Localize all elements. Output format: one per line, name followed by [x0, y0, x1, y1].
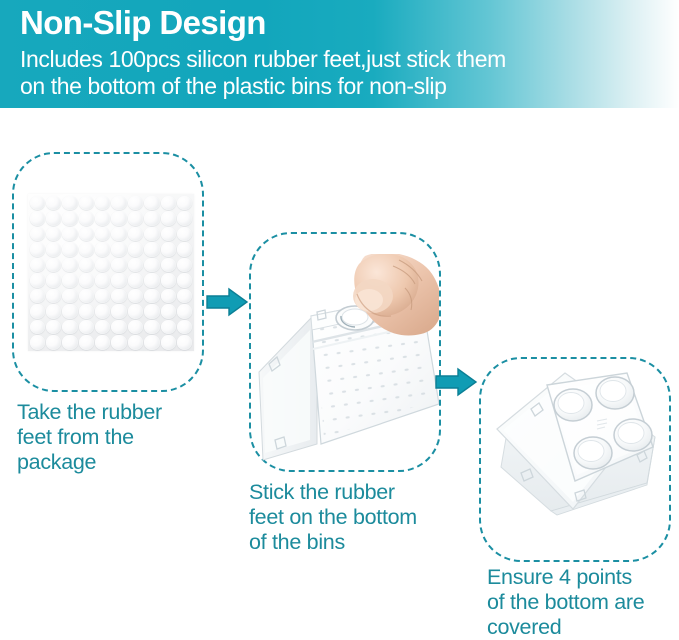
step-2-caption: Stick the rubber feet on the bottom of t…	[249, 480, 459, 555]
rubber-feet-sheet	[28, 194, 194, 351]
step-3-caption: Ensure 4 points of the bottom are covere…	[487, 565, 679, 640]
rubber-foot-dot	[177, 304, 192, 319]
rubber-foot-dot	[95, 273, 110, 288]
header-subtitle-line-1: Includes 100pcs silicon rubber feet,just…	[20, 46, 506, 73]
rubber-foot-dot	[111, 304, 126, 319]
rubber-foot-dot	[95, 227, 110, 242]
bin-left-side	[259, 318, 317, 460]
rubber-foot-dot	[30, 211, 45, 226]
rubber-foot-dot	[79, 242, 94, 257]
rubber-foot-top-left	[554, 389, 592, 421]
header-banner: Non-Slip Design Includes 100pcs silicon …	[0, 0, 679, 108]
rubber-foot-dot	[79, 289, 94, 304]
rubber-foot-dot	[79, 211, 94, 226]
rubber-foot-dot	[144, 227, 159, 242]
step-3-panel	[479, 357, 671, 562]
bin-hand-graphic	[253, 254, 439, 470]
rubber-foot-dot	[95, 304, 110, 319]
rubber-foot-dot	[161, 211, 176, 226]
rubber-foot-dot	[46, 258, 61, 273]
rubber-foot-dot	[161, 289, 176, 304]
rubber-foot-dot	[144, 258, 159, 273]
rubber-foot-dot	[46, 227, 61, 242]
step-1-caption-line-2: feet from the	[17, 425, 217, 450]
step-3-caption-line-2: of the bottom are	[487, 590, 679, 615]
step-2-caption-line-3: of the bins	[249, 530, 459, 555]
rubber-foot-dot	[46, 335, 61, 350]
rubber-foot-dot	[62, 320, 77, 335]
rubber-foot-dot	[79, 335, 94, 350]
rubber-foot-dot	[95, 211, 110, 226]
rubber-foot-dot	[46, 242, 61, 257]
step-1-caption: Take the rubber feet from the package	[17, 400, 217, 475]
rubber-foot-dot	[111, 273, 126, 288]
step-1-caption-line-3: package	[17, 450, 217, 475]
rubber-foot-dot	[144, 196, 159, 211]
rubber-foot-dot	[177, 273, 192, 288]
arrow-right-icon-2	[434, 367, 478, 397]
rubber-foot-dot	[79, 304, 94, 319]
rubber-foot-dot	[95, 320, 110, 335]
arrow-right-glyph-2	[434, 367, 478, 397]
rubber-feet-dot-grid	[28, 194, 194, 351]
step-2-caption-line-2: feet on the bottom	[249, 505, 459, 530]
rubber-foot-dot	[95, 242, 110, 257]
rubber-foot-dot	[177, 258, 192, 273]
header-subtitle-line-2: on the bottom of the plastic bins for no…	[20, 73, 506, 100]
rubber-foot-dot	[128, 227, 143, 242]
rubber-foot-dot	[144, 273, 159, 288]
rubber-foot-dot	[30, 227, 45, 242]
rubber-foot-dot	[144, 320, 159, 335]
step-1-caption-line-1: Take the rubber	[17, 400, 217, 425]
step-3-caption-line-1: Ensure 4 points	[487, 565, 679, 590]
rubber-foot-dot	[161, 242, 176, 257]
arrow-right-glyph-1	[205, 287, 249, 317]
rubber-foot-dot	[161, 258, 176, 273]
step-2-image	[251, 234, 439, 470]
rubber-foot-dot	[79, 273, 94, 288]
rubber-foot-dot	[128, 273, 143, 288]
rubber-foot-dot	[30, 320, 45, 335]
bin-bottom-four-feet-illustration	[487, 363, 669, 559]
rubber-foot-dot	[62, 227, 77, 242]
rubber-foot-dot	[144, 242, 159, 257]
rubber-foot-dot	[177, 289, 192, 304]
rubber-foot-dot	[62, 196, 77, 211]
arrow-right-icon-1	[205, 287, 249, 317]
rubber-foot-dot	[128, 304, 143, 319]
rubber-foot-dot	[111, 258, 126, 273]
rubber-foot-dot	[30, 304, 45, 319]
rubber-foot-dot	[95, 258, 110, 273]
rubber-foot-dot	[46, 320, 61, 335]
rubber-foot-dot	[144, 289, 159, 304]
rubber-foot-dot	[128, 335, 143, 350]
rubber-foot-dot	[161, 273, 176, 288]
rubber-foot-dot	[111, 335, 126, 350]
rubber-foot-dot	[177, 227, 192, 242]
bin-with-hand-illustration	[253, 254, 439, 470]
rubber-foot-dot	[144, 211, 159, 226]
rubber-foot-dot	[177, 320, 192, 335]
rubber-foot-dot	[46, 304, 61, 319]
rubber-foot-dot	[46, 211, 61, 226]
rubber-foot-dot	[161, 335, 176, 350]
rubber-foot-dot	[95, 196, 110, 211]
rubber-foot-dot	[111, 320, 126, 335]
rubber-foot-dot	[30, 289, 45, 304]
rubber-foot-dot	[128, 196, 143, 211]
rubber-foot-dot	[62, 289, 77, 304]
rubber-foot-dot	[128, 242, 143, 257]
step-2-panel	[249, 232, 441, 472]
step-3-image	[481, 359, 669, 560]
rubber-foot-dot	[128, 289, 143, 304]
step-1-panel	[12, 152, 204, 392]
rubber-foot-dot	[111, 289, 126, 304]
rubber-foot-dot	[161, 320, 176, 335]
rubber-foot-dot	[62, 335, 77, 350]
rubber-foot-dot	[62, 242, 77, 257]
rubber-foot-dot	[177, 196, 192, 211]
rubber-foot-bottom-left	[574, 437, 612, 469]
rubber-foot-dot	[30, 273, 45, 288]
rubber-foot-dot	[30, 196, 45, 211]
rubber-foot-dot	[30, 242, 45, 257]
rubber-foot-dot	[46, 289, 61, 304]
rubber-foot-dot	[111, 227, 126, 242]
rubber-foot-dot	[46, 273, 61, 288]
rubber-foot-dot	[79, 258, 94, 273]
rubber-foot-dot	[177, 211, 192, 226]
rubber-foot-dot	[144, 304, 159, 319]
rubber-foot-dot	[177, 335, 192, 350]
rubber-foot-dot	[79, 196, 94, 211]
header-subtitle: Includes 100pcs silicon rubber feet,just…	[20, 46, 506, 100]
rubber-foot-dot	[161, 304, 176, 319]
rubber-foot-dot	[177, 242, 192, 257]
step-1-image	[14, 154, 202, 390]
rubber-foot-dot	[111, 196, 126, 211]
rubber-foot-dot	[62, 211, 77, 226]
rubber-foot-dot	[161, 227, 176, 242]
rubber-foot-bottom-right	[614, 419, 652, 451]
rubber-foot-dot	[62, 304, 77, 319]
rubber-foot-top-right	[596, 377, 634, 409]
step-2-caption-line-1: Stick the rubber	[249, 480, 459, 505]
bin-four-feet-graphic	[487, 363, 669, 559]
rubber-foot-dot	[128, 211, 143, 226]
rubber-foot-dot	[144, 335, 159, 350]
rubber-foot-dot	[30, 258, 45, 273]
step-3-caption-line-3: covered	[487, 615, 679, 640]
rubber-foot-dot	[128, 320, 143, 335]
rubber-foot-dot	[111, 242, 126, 257]
rubber-foot-dot	[95, 289, 110, 304]
rubber-foot-dot	[79, 320, 94, 335]
rubber-foot-dot	[62, 258, 77, 273]
rubber-foot-dot	[30, 335, 45, 350]
rubber-foot-dot	[111, 211, 126, 226]
rubber-foot-dot	[128, 258, 143, 273]
rubber-foot-dot	[46, 196, 61, 211]
rubber-foot-dot	[161, 196, 176, 211]
rubber-foot-dot	[79, 227, 94, 242]
rubber-foot-dot	[62, 273, 77, 288]
rubber-foot-dot	[95, 335, 110, 350]
page-title: Non-Slip Design	[20, 3, 266, 43]
